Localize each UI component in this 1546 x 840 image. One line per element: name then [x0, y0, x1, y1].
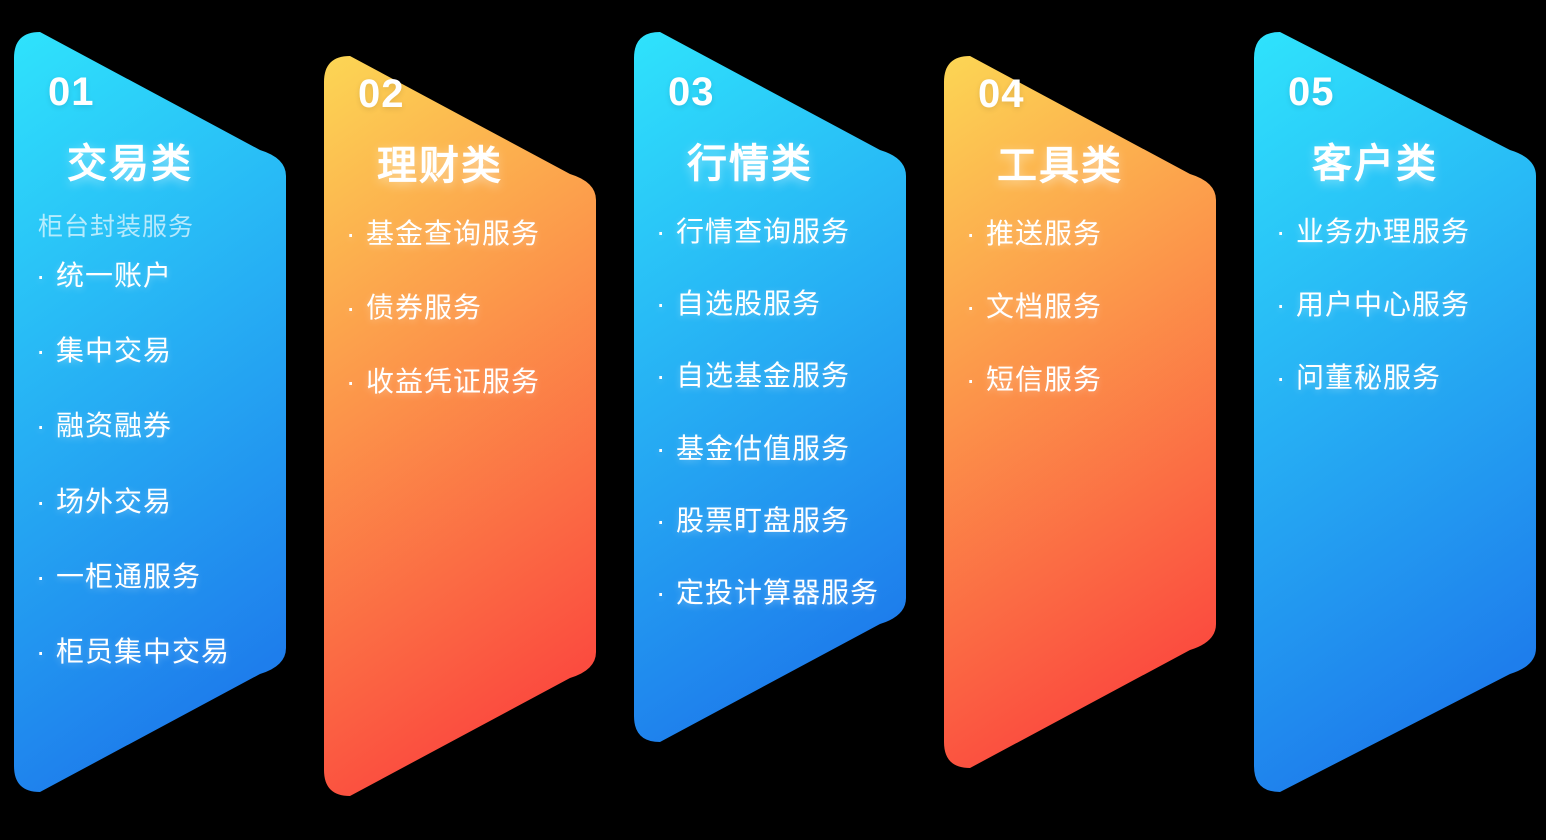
service-list: ·推送服务·文档服务·短信服务 [966, 218, 1208, 438]
card-title: 交易类 [14, 142, 286, 186]
service-list-item[interactable]: ·统一账户 [36, 260, 278, 292]
service-list-item-label: 基金查询服务 [366, 218, 588, 250]
service-list-item[interactable]: ·基金查询服务 [346, 218, 588, 250]
bullet-icon: · [656, 360, 676, 392]
bullet-icon: · [966, 218, 986, 250]
service-list-item[interactable]: ·行情查询服务 [656, 216, 898, 248]
service-list: ·统一账户·集中交易·融资融券·场外交易·一柜通服务·柜员集中交易 [36, 260, 278, 711]
bullet-icon: · [966, 364, 986, 396]
card-number: 02 [358, 74, 405, 114]
card-number: 01 [48, 72, 95, 112]
service-list-item-label: 用户中心服务 [1296, 289, 1528, 321]
service-list-item[interactable]: ·文档服务 [966, 291, 1208, 323]
service-list: ·基金查询服务·债券服务·收益凭证服务 [346, 218, 588, 441]
service-card-01[interactable]: 01交易类柜台封装服务·统一账户·集中交易·融资融券·场外交易·一柜通服务·柜员… [14, 32, 286, 792]
service-list-item[interactable]: ·基金估值服务 [656, 433, 898, 465]
service-list-item[interactable]: ·股票盯盘服务 [656, 505, 898, 537]
bullet-icon: · [656, 288, 676, 320]
service-list-item-label: 文档服务 [986, 291, 1208, 323]
service-list-item-label: 场外交易 [56, 486, 278, 518]
service-card-04[interactable]: 04工具类·推送服务·文档服务·短信服务 [944, 56, 1216, 768]
bullet-icon: · [1276, 216, 1296, 248]
bullet-icon: · [36, 561, 56, 593]
service-list: ·业务办理服务·用户中心服务·问董秘服务 [1276, 216, 1528, 436]
service-list-item[interactable]: ·自选股服务 [656, 288, 898, 320]
service-list-item[interactable]: ·业务办理服务 [1276, 216, 1528, 248]
bullet-icon: · [36, 410, 56, 442]
card-title: 理财类 [324, 144, 596, 188]
service-card-02[interactable]: 02理财类·基金查询服务·债券服务·收益凭证服务 [324, 56, 596, 796]
bullet-icon: · [656, 216, 676, 248]
bullet-icon: · [36, 486, 56, 518]
service-list: ·行情查询服务·自选股服务·自选基金服务·基金估值服务·股票盯盘服务·定投计算器… [656, 216, 898, 649]
service-list-item-label: 基金估值服务 [676, 433, 898, 465]
service-list-item[interactable]: ·短信服务 [966, 364, 1208, 396]
service-list-item-label: 融资融券 [56, 410, 278, 442]
card-subtitle: 柜台封装服务 [38, 212, 194, 242]
service-list-item-label: 债券服务 [366, 292, 588, 324]
bullet-icon: · [36, 636, 56, 668]
service-list-item-label: 柜员集中交易 [56, 636, 278, 668]
card-title: 工具类 [944, 144, 1216, 188]
card-title: 行情类 [634, 142, 906, 186]
service-card-05[interactable]: 05客户类·业务办理服务·用户中心服务·问董秘服务 [1254, 32, 1536, 792]
infographic-canvas: 01交易类柜台封装服务·统一账户·集中交易·融资融券·场外交易·一柜通服务·柜员… [0, 0, 1546, 840]
service-card-03[interactable]: 03行情类·行情查询服务·自选股服务·自选基金服务·基金估值服务·股票盯盘服务·… [634, 32, 906, 742]
service-list-item-label: 短信服务 [986, 364, 1208, 396]
service-list-item-label: 行情查询服务 [676, 216, 898, 248]
service-list-item-label: 自选股服务 [676, 288, 898, 320]
service-list-item-label: 问董秘服务 [1296, 362, 1528, 394]
service-list-item[interactable]: ·问董秘服务 [1276, 362, 1528, 394]
service-list-item[interactable]: ·推送服务 [966, 218, 1208, 250]
service-list-item-label: 一柜通服务 [56, 561, 278, 593]
service-list-item[interactable]: ·收益凭证服务 [346, 366, 588, 398]
service-list-item[interactable]: ·柜员集中交易 [36, 636, 278, 668]
card-number: 03 [668, 72, 715, 112]
service-list-item-label: 统一账户 [56, 260, 278, 292]
bullet-icon: · [656, 577, 676, 609]
card-title: 客户类 [1254, 142, 1536, 186]
bullet-icon: · [346, 292, 366, 324]
service-list-item[interactable]: ·债券服务 [346, 292, 588, 324]
card-number: 04 [978, 74, 1025, 114]
card-number: 05 [1288, 72, 1335, 112]
bullet-icon: · [36, 335, 56, 367]
service-list-item[interactable]: ·自选基金服务 [656, 360, 898, 392]
bullet-icon: · [656, 505, 676, 537]
bullet-icon: · [966, 291, 986, 323]
service-list-item[interactable]: ·集中交易 [36, 335, 278, 367]
bullet-icon: · [346, 218, 366, 250]
service-list-item-label: 收益凭证服务 [366, 366, 588, 398]
service-list-item[interactable]: ·定投计算器服务 [656, 577, 898, 609]
service-list-item-label: 集中交易 [56, 335, 278, 367]
service-list-item[interactable]: ·融资融券 [36, 410, 278, 442]
bullet-icon: · [346, 366, 366, 398]
service-list-item[interactable]: ·一柜通服务 [36, 561, 278, 593]
service-list-item-label: 股票盯盘服务 [676, 505, 898, 537]
service-list-item-label: 业务办理服务 [1296, 216, 1528, 248]
bullet-icon: · [1276, 289, 1296, 321]
service-list-item[interactable]: ·场外交易 [36, 486, 278, 518]
bullet-icon: · [656, 433, 676, 465]
bullet-icon: · [36, 260, 56, 292]
service-list-item[interactable]: ·用户中心服务 [1276, 289, 1528, 321]
service-list-item-label: 定投计算器服务 [676, 577, 898, 609]
bullet-icon: · [1276, 362, 1296, 394]
service-list-item-label: 自选基金服务 [676, 360, 898, 392]
service-list-item-label: 推送服务 [986, 218, 1208, 250]
